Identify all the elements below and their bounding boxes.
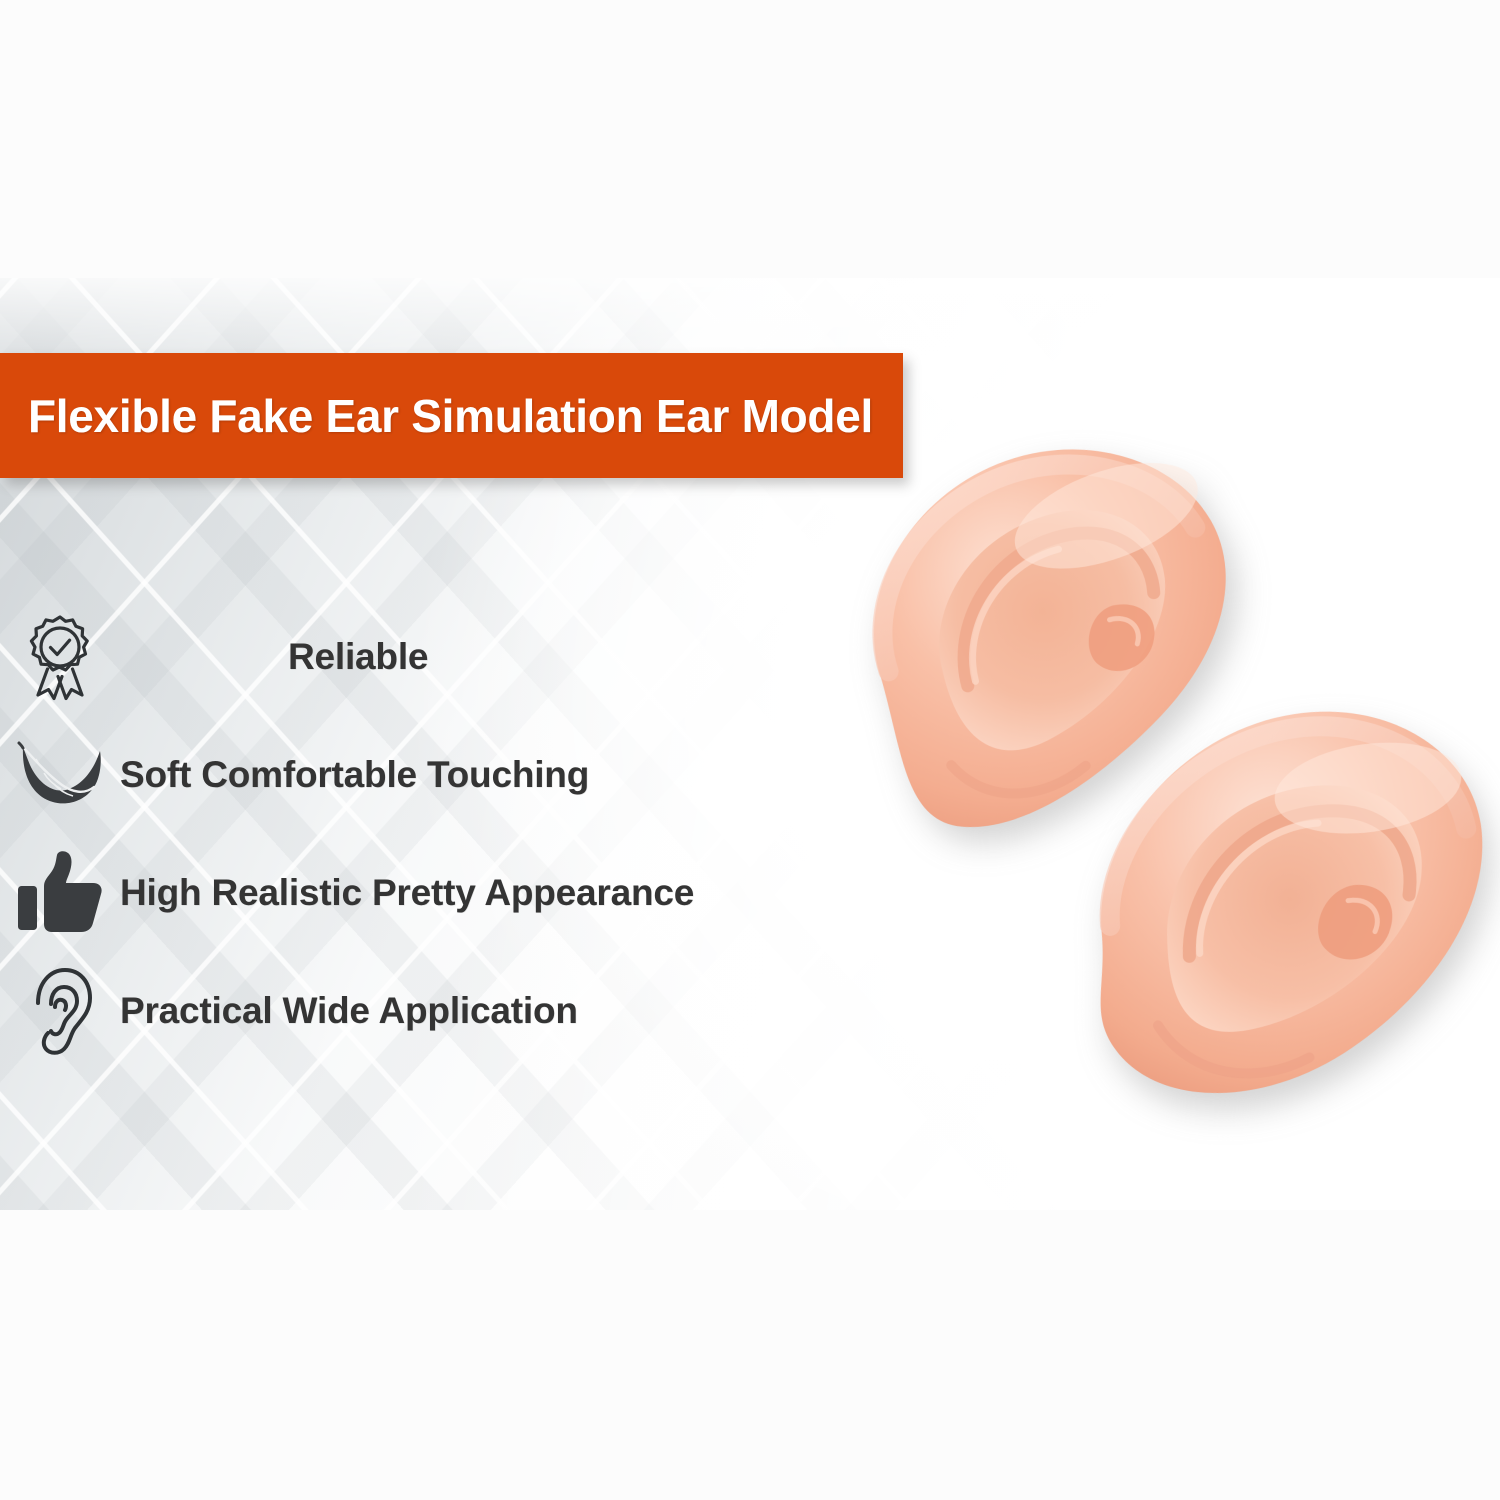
feature-item-reliable: Reliable bbox=[0, 598, 880, 716]
feature-label: Soft Comfortable Touching bbox=[120, 754, 589, 796]
feature-list: Reliable Soft Comfortable Touching bbox=[0, 598, 880, 1070]
ear-model-lower bbox=[1038, 656, 1500, 1141]
award-badge-icon bbox=[0, 611, 120, 703]
feature-item-realistic: High Realistic Pretty Appearance bbox=[0, 834, 880, 952]
title-banner: Flexible Fake Ear Simulation Ear Model bbox=[0, 353, 903, 478]
feature-label: High Realistic Pretty Appearance bbox=[120, 872, 694, 914]
feature-item-wide-application: Practical Wide Application bbox=[0, 952, 880, 1070]
thumbs-up-icon bbox=[0, 850, 120, 936]
feature-label: Reliable bbox=[120, 636, 428, 678]
feather-icon bbox=[0, 739, 120, 811]
feature-item-soft-touch: Soft Comfortable Touching bbox=[0, 716, 880, 834]
poster-canvas: Flexible Fake Ear Simulation Ear Model R… bbox=[0, 278, 1500, 1210]
product-feature-poster: Flexible Fake Ear Simulation Ear Model R… bbox=[0, 0, 1500, 1500]
poster-title: Flexible Fake Ear Simulation Ear Model bbox=[0, 389, 873, 443]
ear-outline-icon bbox=[0, 963, 120, 1059]
feature-label: Practical Wide Application bbox=[120, 990, 578, 1032]
